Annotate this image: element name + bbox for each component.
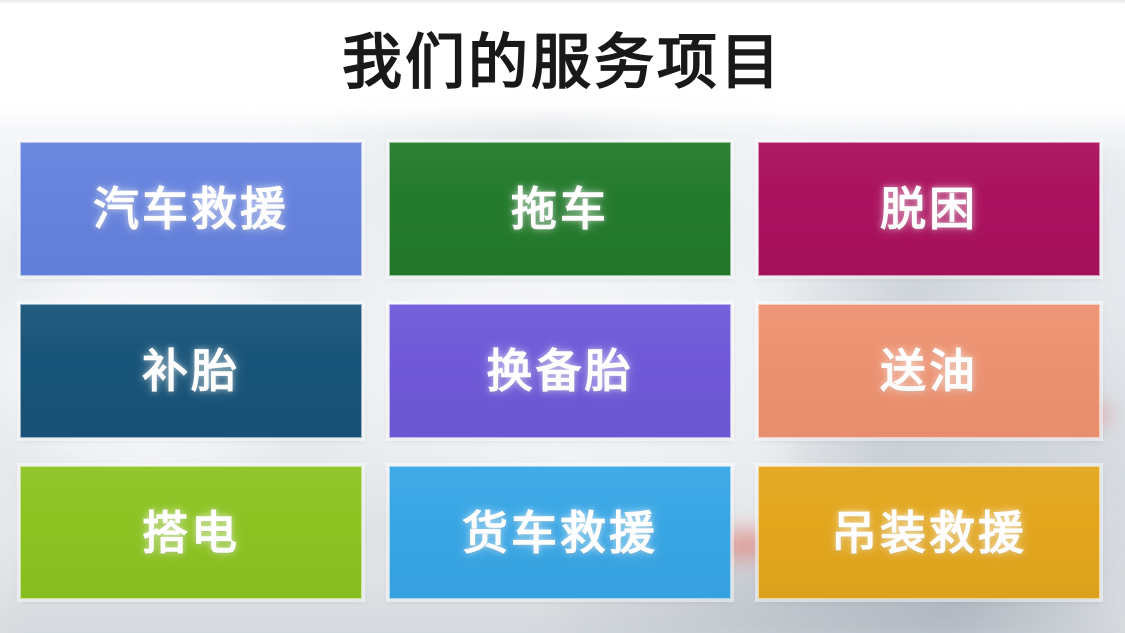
service-tile-grid: 汽车救援拖车脱困补胎换备胎送油搭电货车救援吊装救援 [20,142,1101,599]
service-tile-label: 吊装救援 [831,510,1027,556]
service-tile-label: 补胎 [142,348,240,394]
service-tile-label: 搭电 [142,510,240,556]
service-tile-label: 货车救援 [462,510,658,556]
service-tile-label: 换备胎 [487,348,634,394]
service-tile-label: 脱困 [880,186,978,232]
service-tile[interactable]: 换备胎 [389,304,731,438]
service-tile[interactable]: 搭电 [20,466,362,599]
service-tile[interactable]: 货车救援 [389,466,731,599]
page-title: 我们的服务项目 [342,33,783,93]
service-tile[interactable]: 吊装救援 [758,466,1100,599]
service-tile[interactable]: 补胎 [20,304,362,438]
page-title-area: 我们的服务项目 [0,0,1125,126]
service-poster: 我们的服务项目 汽车救援拖车脱困补胎换备胎送油搭电货车救援吊装救援 [0,0,1125,633]
service-tile[interactable]: 脱困 [758,142,1100,276]
service-tile-label: 汽车救援 [93,186,289,232]
service-tile-label: 送油 [880,348,978,394]
service-tile[interactable]: 送油 [758,304,1100,438]
service-tile[interactable]: 拖车 [389,142,731,276]
service-tile-label: 拖车 [511,186,609,232]
service-tile[interactable]: 汽车救援 [20,142,362,276]
